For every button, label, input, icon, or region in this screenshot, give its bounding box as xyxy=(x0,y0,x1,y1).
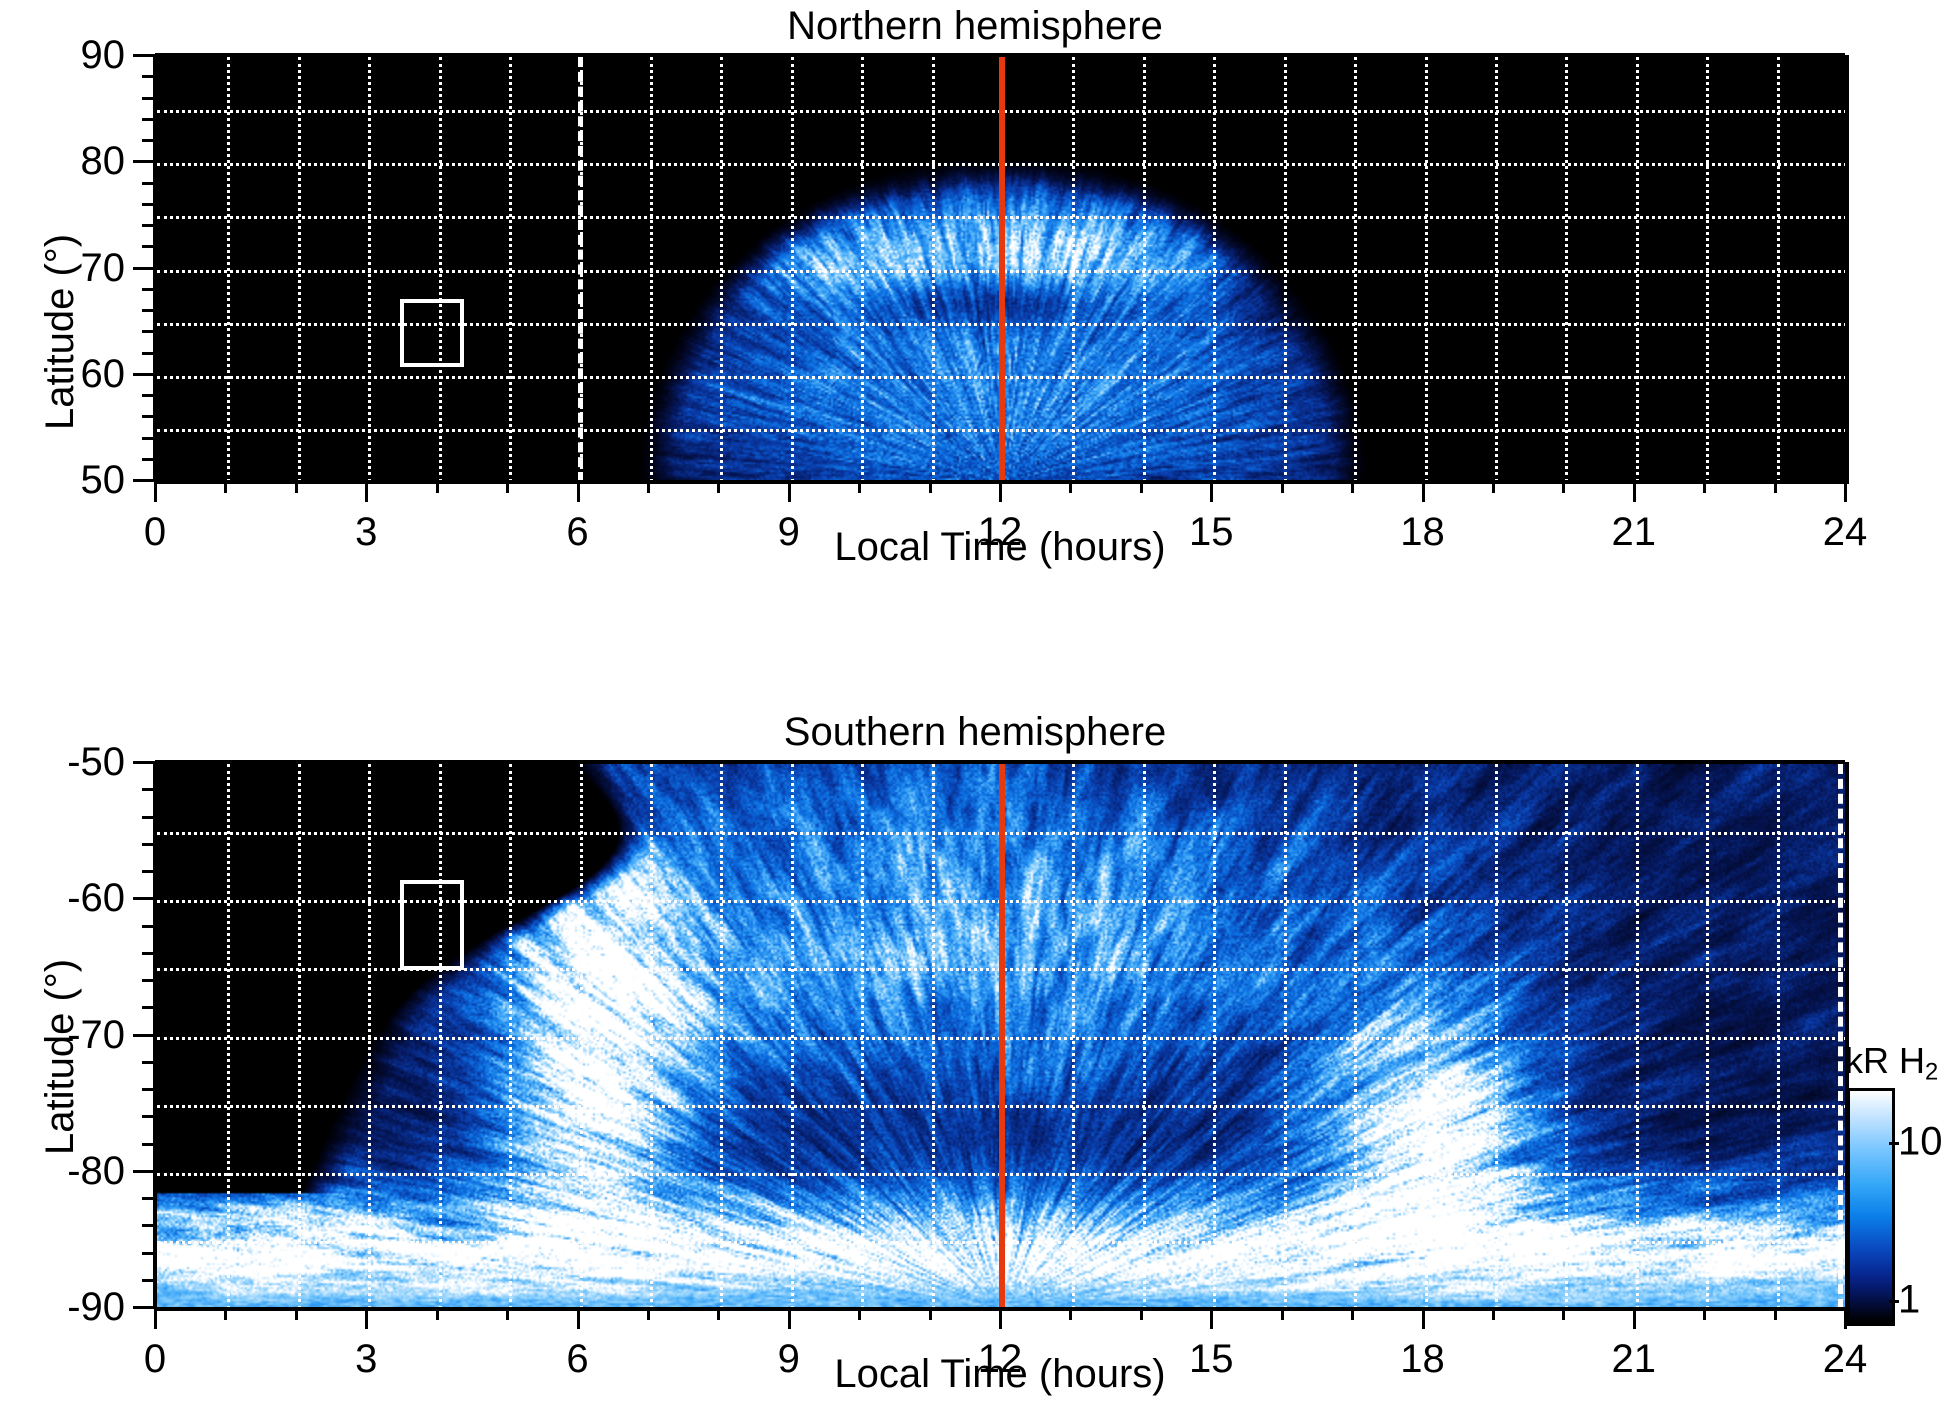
xtick-minor xyxy=(1140,480,1143,493)
xtick-major xyxy=(154,480,157,502)
xtick-major xyxy=(154,1307,157,1329)
ytick-label: 90 xyxy=(0,35,125,75)
xtick-minor xyxy=(1140,1307,1143,1320)
northern-yaxis-title: Latitude (°) xyxy=(38,234,83,430)
ytick-label: 80 xyxy=(0,141,125,181)
xtick-minor xyxy=(858,1307,861,1320)
ytick-minor xyxy=(142,843,155,846)
xtick-major xyxy=(577,1307,580,1329)
xtick-major xyxy=(1422,480,1425,502)
xtick-major xyxy=(788,1307,791,1329)
ytick-minor xyxy=(142,1224,155,1227)
ytick-minor xyxy=(142,925,155,928)
colorbar-tick-label-1: 1 xyxy=(1898,1278,1920,1323)
ytick-minor xyxy=(142,309,155,312)
axis-line-top xyxy=(155,760,1845,763)
xtick-major xyxy=(577,480,580,502)
southern-noon-line xyxy=(999,764,1005,1309)
xtick-minor xyxy=(224,1307,227,1320)
colorbar-title-text: kR H xyxy=(1845,1040,1925,1081)
northern-noon-line xyxy=(999,57,1005,482)
xtick-major xyxy=(365,480,368,502)
ytick-minor xyxy=(142,1197,155,1200)
ytick-minor xyxy=(142,1006,155,1009)
ytick-label: -90 xyxy=(0,1287,125,1327)
colorbar-title: kR H2 xyxy=(1845,1040,1938,1087)
ytick-minor xyxy=(142,415,155,418)
ytick-major xyxy=(133,761,155,764)
ytick-minor xyxy=(142,224,155,227)
colorbar-tick-10 xyxy=(1889,1142,1899,1145)
ytick-minor xyxy=(142,203,155,206)
southern-yaxis-title: Latitude (°) xyxy=(38,959,83,1155)
ytick-minor xyxy=(142,1088,155,1091)
xtick-minor xyxy=(929,1307,932,1320)
ytick-major xyxy=(133,54,155,57)
ytick-major xyxy=(133,160,155,163)
xtick-minor xyxy=(1562,1307,1565,1320)
xtick-minor xyxy=(436,1307,439,1320)
xtick-minor xyxy=(858,480,861,493)
ytick-major xyxy=(133,373,155,376)
ytick-minor xyxy=(142,1061,155,1064)
xtick-minor xyxy=(295,480,298,493)
colorbar-gradient[interactable] xyxy=(1847,1088,1895,1326)
xtick-minor xyxy=(1351,1307,1354,1320)
ytick-minor xyxy=(142,139,155,142)
ytick-label: 50 xyxy=(0,460,125,500)
ytick-minor xyxy=(142,816,155,819)
xtick-minor xyxy=(647,480,650,493)
xtick-major xyxy=(1210,1307,1213,1329)
ytick-minor xyxy=(142,1279,155,1282)
ytick-minor xyxy=(142,118,155,121)
xtick-minor xyxy=(647,1307,650,1320)
axis-line-top xyxy=(155,53,1845,56)
ytick-minor xyxy=(142,870,155,873)
southern-panel-title: Southern hemisphere xyxy=(0,712,1950,752)
ytick-major xyxy=(133,897,155,900)
xtick-minor xyxy=(436,480,439,493)
southern-annotation-box xyxy=(400,880,464,970)
ytick-label: -60 xyxy=(0,878,125,918)
ytick-minor xyxy=(142,245,155,248)
ytick-major xyxy=(133,479,155,482)
northern-terminator-line xyxy=(578,57,583,482)
ytick-minor xyxy=(142,788,155,791)
ytick-minor xyxy=(142,1115,155,1118)
xtick-minor xyxy=(295,1307,298,1320)
xtick-minor xyxy=(929,480,932,493)
xtick-minor xyxy=(1492,1307,1495,1320)
southern-xaxis-title: Local Time (hours) xyxy=(155,1352,1845,1397)
axis-line-right xyxy=(1845,55,1848,480)
ytick-label: -80 xyxy=(0,1151,125,1191)
ytick-major xyxy=(133,1170,155,1173)
xtick-major xyxy=(1210,480,1213,502)
xtick-minor xyxy=(1351,480,1354,493)
xtick-major xyxy=(999,1307,1002,1329)
northern-panel-title: Northern hemisphere xyxy=(0,6,1950,46)
ytick-minor xyxy=(142,330,155,333)
ytick-label: -50 xyxy=(0,742,125,782)
xtick-major xyxy=(365,1307,368,1329)
ytick-minor xyxy=(142,352,155,355)
northern-annotation-box xyxy=(400,299,464,367)
xtick-major xyxy=(1633,1307,1636,1329)
xtick-minor xyxy=(1774,480,1777,493)
xtick-minor xyxy=(1492,480,1495,493)
ytick-major xyxy=(133,267,155,270)
northern-xaxis-title: Local Time (hours) xyxy=(155,525,1845,570)
ytick-minor xyxy=(142,182,155,185)
xtick-minor xyxy=(1069,1307,1072,1320)
southern-plot-area[interactable] xyxy=(155,762,1849,1311)
ytick-minor xyxy=(142,394,155,397)
xtick-minor xyxy=(717,480,720,493)
xtick-minor xyxy=(506,1307,509,1320)
xtick-minor xyxy=(1703,1307,1706,1320)
ytick-minor xyxy=(142,952,155,955)
ytick-major xyxy=(133,1306,155,1309)
xtick-minor xyxy=(1562,480,1565,493)
ytick-major xyxy=(133,1034,155,1037)
ytick-minor xyxy=(142,979,155,982)
ytick-minor xyxy=(142,1143,155,1146)
ytick-minor xyxy=(142,97,155,100)
ytick-minor xyxy=(142,458,155,461)
xtick-major xyxy=(1422,1307,1425,1329)
xtick-minor xyxy=(224,480,227,493)
xtick-major xyxy=(1633,480,1636,502)
xtick-minor xyxy=(1069,480,1072,493)
xtick-major xyxy=(788,480,791,502)
southern-terminator-line xyxy=(1838,764,1843,1309)
ytick-minor xyxy=(142,1252,155,1255)
colorbar-title-subscript: 2 xyxy=(1925,1059,1938,1086)
ytick-minor xyxy=(142,437,155,440)
northern-plot-area[interactable] xyxy=(155,55,1849,484)
colorbar-tick-1 xyxy=(1889,1300,1899,1303)
xtick-major xyxy=(999,480,1002,502)
xtick-major xyxy=(1844,480,1847,502)
xtick-minor xyxy=(1703,480,1706,493)
ytick-minor xyxy=(142,288,155,291)
xtick-minor xyxy=(1281,1307,1284,1320)
ytick-minor xyxy=(142,75,155,78)
xtick-minor xyxy=(1774,1307,1777,1320)
xtick-minor xyxy=(717,1307,720,1320)
xtick-minor xyxy=(506,480,509,493)
colorbar-tick-label-10: 10 xyxy=(1898,1120,1943,1165)
xtick-minor xyxy=(1281,480,1284,493)
